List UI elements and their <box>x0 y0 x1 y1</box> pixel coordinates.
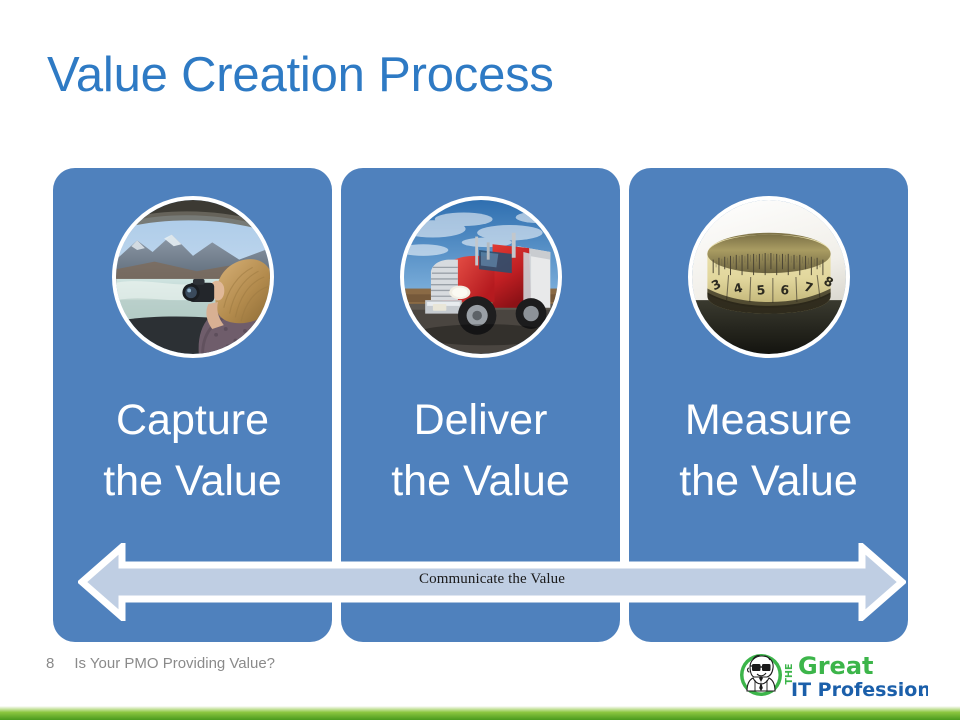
panel-label-deliver: Deliver the Value <box>341 390 620 512</box>
bottom-green-bar <box>0 706 960 720</box>
great-it-professional-logo[interactable]: THE Great IT Professional <box>736 648 928 702</box>
photo-coiled-measuring-tape: 3 4 5 6 7 8 <box>688 196 850 358</box>
footer-deck-title: Is Your PMO Providing Value? <box>74 655 275 672</box>
logo-it-professional-text: IT Professional <box>791 679 928 701</box>
nerd-character-with-glasses-icon <box>740 654 782 696</box>
photo-woman-photographing-mountain-landscape <box>112 196 274 358</box>
logo-trademark-dot <box>921 694 923 696</box>
footer: 8 Is Your PMO Providing Value? <box>46 655 275 672</box>
page-title: Value Creation Process <box>47 48 554 103</box>
footer-page-number: 8 <box>46 655 54 672</box>
communicate-arrow-label: Communicate the Value <box>78 571 906 588</box>
svg-text:5: 5 <box>755 282 765 298</box>
photo-red-semi-truck <box>400 196 562 358</box>
svg-text:6: 6 <box>779 282 789 298</box>
logo-great-text: Great <box>798 652 873 680</box>
communicate-the-value-arrow[interactable]: Communicate the Value <box>78 543 906 621</box>
panel-label-measure: Measure the Value <box>629 390 908 512</box>
panel-label-capture: Capture the Value <box>53 390 332 512</box>
logo-artwork: THE Great IT Professional <box>736 648 928 702</box>
